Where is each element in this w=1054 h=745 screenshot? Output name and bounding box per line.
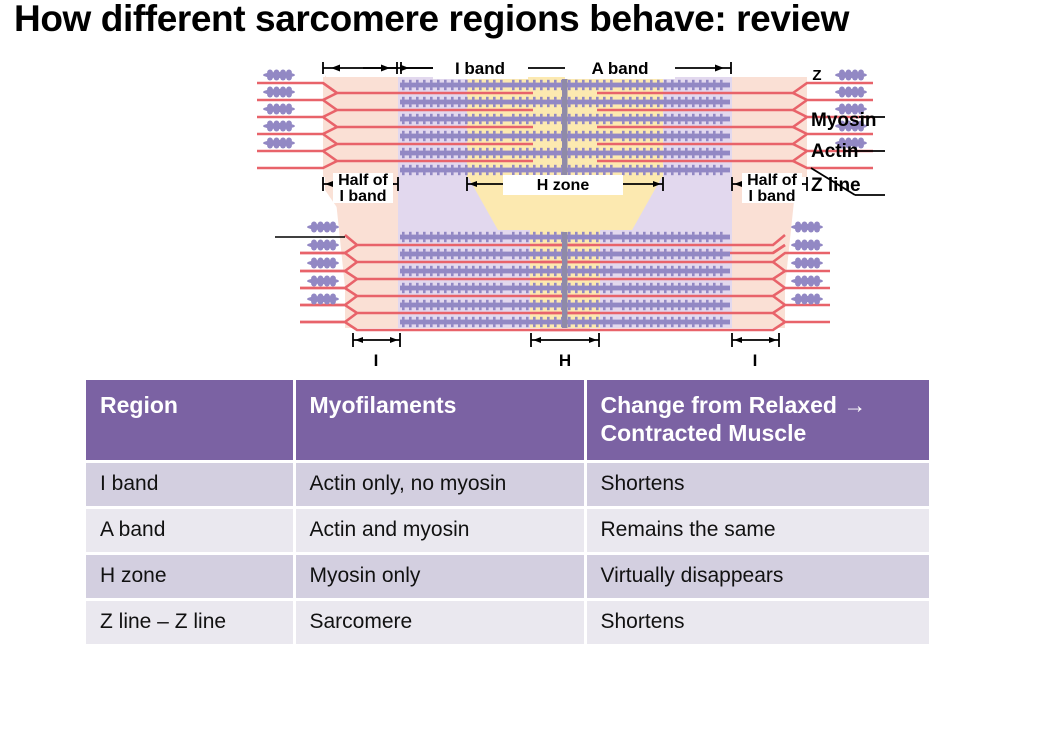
slide-root: How different sarcomere regions behave: … xyxy=(0,0,1054,745)
sarcomere-region-table: Region Myofilaments Change from Relaxed … xyxy=(86,380,929,644)
label-half-i-band-left-1: Half of xyxy=(338,172,388,189)
label-bottom-h: H xyxy=(559,351,571,370)
myosin-icons-left-relaxed xyxy=(263,70,295,149)
table-row: H zone Myosin only Virtually disappears xyxy=(86,554,929,600)
cell-region: H zone xyxy=(86,554,294,600)
cell-region: A band xyxy=(86,508,294,554)
table-row: Z line – Z line Sarcomere Shortens xyxy=(86,600,929,645)
legend-label-myosin: Myosin xyxy=(811,110,876,132)
table-header-row: Region Myofilaments Change from Relaxed … xyxy=(86,380,929,462)
relaxed-sarcomere xyxy=(257,70,873,178)
label-z: Z xyxy=(812,67,821,84)
label-half-i-band-right-2: I band xyxy=(748,188,795,205)
label-a-band: A band xyxy=(592,59,649,78)
label-bottom-i-right: I xyxy=(753,351,758,370)
cell-change: Shortens xyxy=(585,462,929,508)
cell-region: Z line – Z line xyxy=(86,600,294,645)
label-i-band: I band xyxy=(455,59,505,78)
myosin-icons-right-contracted xyxy=(791,222,823,305)
label-half-i-band-left-2: I band xyxy=(339,188,386,205)
sarcomere-diagram: I band A band Z xyxy=(245,55,885,375)
cell-region: I band xyxy=(86,462,294,508)
table-header-change-line2: Contracted Muscle xyxy=(601,419,916,447)
cell-change: Shortens xyxy=(585,600,929,645)
label-half-i-band-right-1: Half of xyxy=(747,172,797,189)
cell-change: Remains the same xyxy=(585,508,929,554)
table-header-myofilaments: Myofilaments xyxy=(294,380,585,462)
cell-myofilaments: Sarcomere xyxy=(294,600,585,645)
cell-myofilaments: Actin and myosin xyxy=(294,508,585,554)
cell-myofilaments: Actin only, no myosin xyxy=(294,462,585,508)
legend-label-actin: Actin xyxy=(811,141,859,163)
cell-change: Virtually disappears xyxy=(585,554,929,600)
contracted-sarcomere xyxy=(275,222,830,331)
bottom-measure-bars xyxy=(353,333,779,347)
myosin-icons-right-relaxed xyxy=(835,70,867,149)
sarcomere-svg: I band A band Z xyxy=(245,55,885,375)
m-line-relaxed xyxy=(562,79,568,177)
table-header-region: Region xyxy=(86,380,294,462)
page-title: How different sarcomere regions behave: … xyxy=(14,0,1054,40)
table-row: I band Actin only, no myosin Shortens xyxy=(86,462,929,508)
m-line-contracted xyxy=(562,232,568,328)
table-row: A band Actin and myosin Remains the same xyxy=(86,508,929,554)
legend-label-z-line: Z line xyxy=(811,175,861,197)
table-header-change-line1: Change from Relaxed → xyxy=(601,391,916,419)
label-bottom-i-left: I xyxy=(374,351,379,370)
table-header-change: Change from Relaxed → Contracted Muscle xyxy=(585,380,929,462)
label-h-zone: H zone xyxy=(537,177,590,194)
cell-myofilaments: Myosin only xyxy=(294,554,585,600)
